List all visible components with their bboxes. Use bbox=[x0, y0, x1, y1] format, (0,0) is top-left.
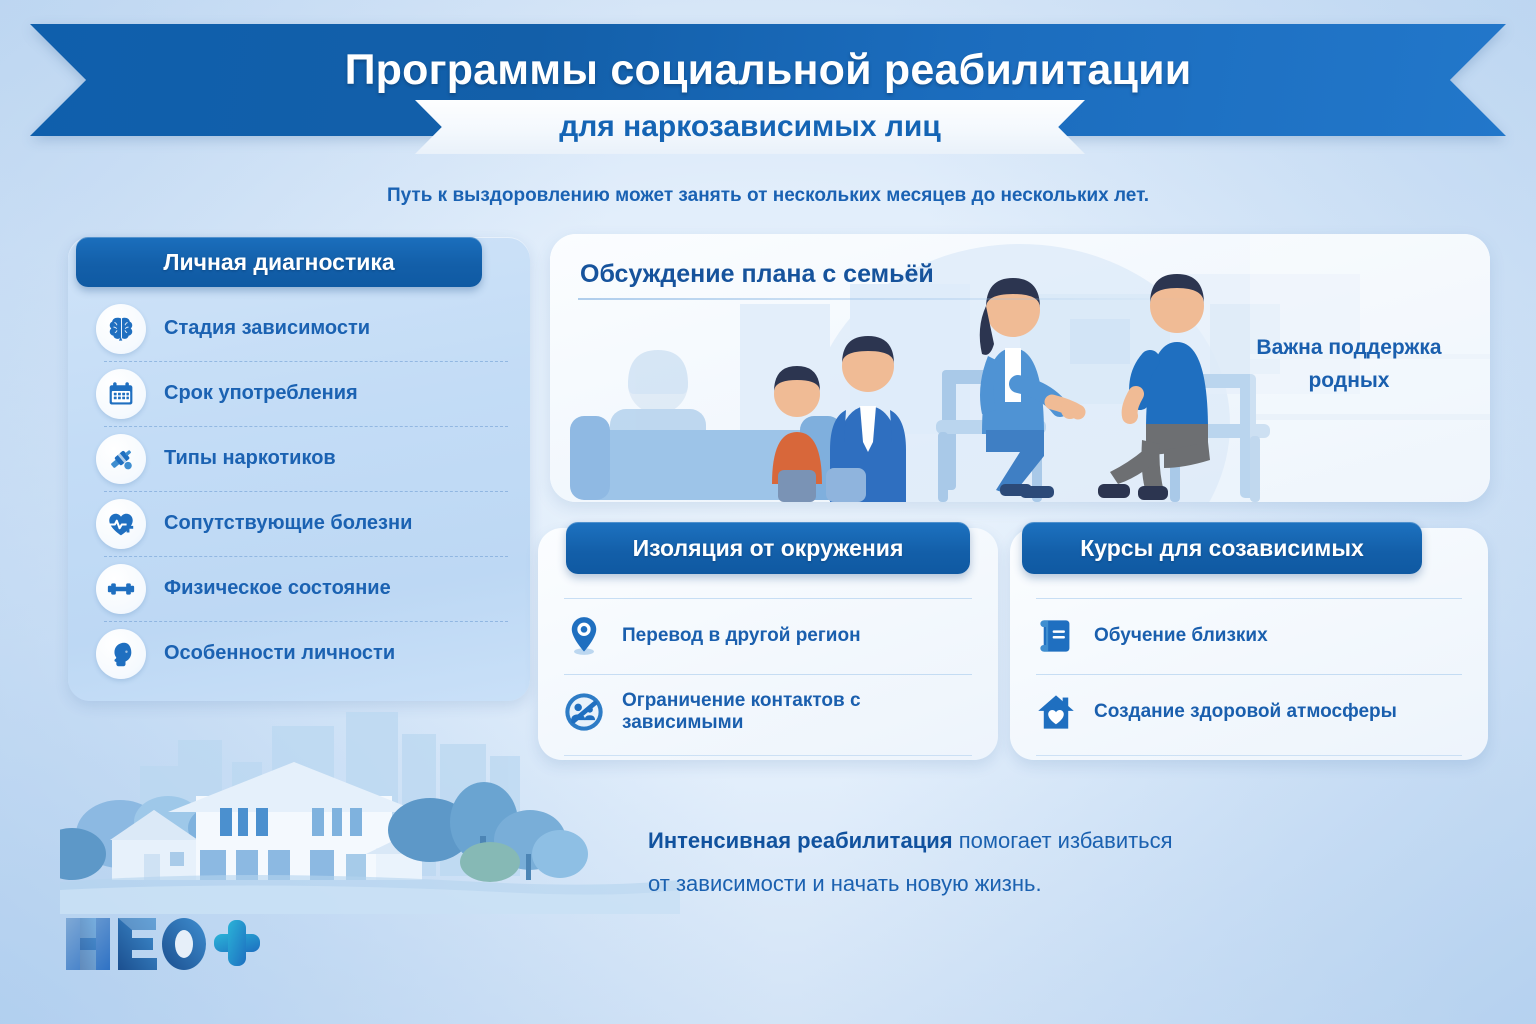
list-item-label: Типы наркотиков bbox=[164, 447, 336, 470]
syringe-icon bbox=[96, 434, 146, 484]
list-item[interactable]: Обучение близких bbox=[1010, 598, 1488, 674]
logo-text: HEO+ bbox=[62, 912, 106, 916]
page-title: Программы социальной реабилитации bbox=[30, 46, 1506, 95]
footer-line2: от зависимости и начать новую жизнь. bbox=[648, 863, 1368, 906]
diagnostics-title-pill: Личная диагностика bbox=[76, 237, 482, 287]
brand-logo: HEO+ bbox=[62, 912, 302, 976]
list-item-label: Сопутствующие болезни bbox=[164, 512, 412, 535]
list-item[interactable]: Стадия зависимости bbox=[68, 296, 530, 361]
list-item[interactable]: Создание здоровой атмосферы bbox=[1010, 674, 1488, 750]
list-item-label: Создание здоровой атмосферы bbox=[1094, 701, 1397, 723]
list-item[interactable]: Типы наркотиков bbox=[68, 426, 530, 491]
list-item-label: Обучение близких bbox=[1094, 625, 1268, 647]
courses-title: Курсы для созависимых bbox=[1022, 522, 1422, 574]
footer-line1-rest: помогает избавиться bbox=[953, 828, 1173, 853]
courses-list: Обучение близких Создание здоровой атмос… bbox=[1010, 598, 1488, 750]
illustration-side-note: Важна поддержка родных bbox=[1234, 332, 1464, 397]
brain-icon bbox=[96, 304, 146, 354]
dumbbell-icon bbox=[96, 564, 146, 614]
list-item[interactable]: Физическое состояние bbox=[68, 556, 530, 621]
courses-title-pill: Курсы для созависимых bbox=[1022, 522, 1422, 574]
footer-statement: Интенсивная реабилитация помогает избави… bbox=[648, 820, 1368, 906]
neighbourhood-illustration bbox=[60, 704, 680, 914]
infographic-root: Программы социальной реабилитации для на… bbox=[0, 0, 1536, 1024]
heading-underline bbox=[578, 298, 1198, 300]
list-item-label: Физическое состояние bbox=[164, 577, 391, 600]
footer-bold-text: Интенсивная реабилитация bbox=[648, 828, 953, 853]
illustration-heading: Обсуждение плана с семьёй bbox=[580, 260, 934, 289]
calendar-icon bbox=[96, 369, 146, 419]
isolation-title: Изоляция от окружения bbox=[566, 522, 970, 574]
list-item-label: Стадия зависимости bbox=[164, 317, 370, 340]
diagnostics-list: Стадия зависимости bbox=[68, 296, 530, 686]
list-item-label: Особенности личности bbox=[164, 642, 395, 665]
head-profile-icon bbox=[96, 629, 146, 679]
list-item[interactable]: Сопутствующие болезни bbox=[68, 491, 530, 556]
isolation-title-pill: Изоляция от окружения bbox=[566, 522, 970, 574]
heart-pulse-icon bbox=[96, 499, 146, 549]
list-item[interactable]: Перевод в другой регион bbox=[538, 598, 998, 674]
map-pin-icon bbox=[560, 612, 608, 660]
house-heart-icon bbox=[1032, 688, 1080, 736]
subtitle-ribbon: для наркозависимых лиц bbox=[415, 100, 1085, 154]
family-discussion-card: Обсуждение плана с семьёй Важна поддержк… bbox=[550, 234, 1490, 502]
intro-text: Путь к выздоровлению может занять от нес… bbox=[0, 185, 1536, 207]
diagnostics-title: Личная диагностика bbox=[76, 237, 482, 287]
list-item[interactable]: Особенности личности bbox=[68, 621, 530, 686]
list-item[interactable]: Срок употребления bbox=[68, 361, 530, 426]
list-item-label: Перевод в другой регион bbox=[622, 625, 861, 647]
page-subtitle: для наркозависимых лиц bbox=[415, 100, 1085, 154]
list-item-label: Срок употребления bbox=[164, 382, 358, 405]
book-icon bbox=[1032, 612, 1080, 660]
